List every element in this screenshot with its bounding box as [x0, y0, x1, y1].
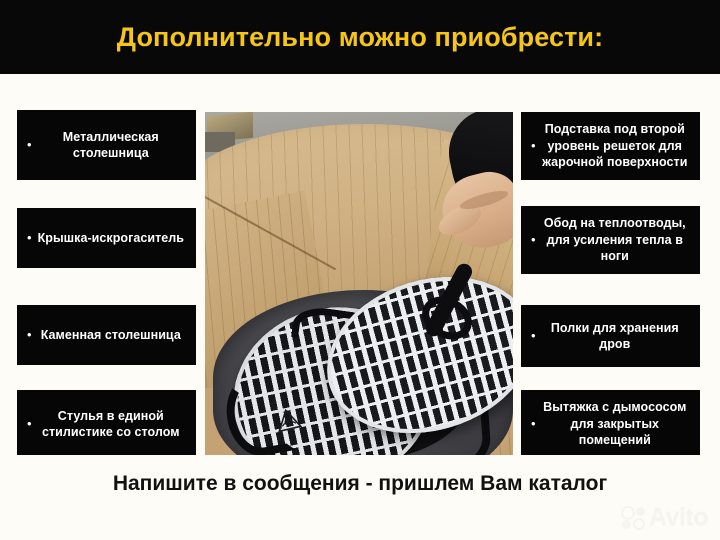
- feature-label: Металлическая столешница: [36, 129, 186, 162]
- bullet-icon: •: [27, 138, 32, 151]
- bullet-icon: •: [27, 417, 32, 430]
- avito-logo-icon: [621, 506, 647, 530]
- feature-item-left-2[interactable]: • Крышка-искрогаситель: [17, 208, 196, 268]
- feature-label: Стулья в единой стилистике со столом: [36, 408, 186, 441]
- promo-card: Дополнительно можно приобрести:: [0, 0, 720, 540]
- bullet-icon: •: [531, 417, 536, 430]
- header-banner: Дополнительно можно приобрести:: [0, 0, 720, 74]
- bullet-icon: •: [27, 328, 32, 341]
- feature-item-left-4[interactable]: • Стулья в единой стилистике со столом: [17, 390, 196, 458]
- call-to-action-text: Напишите в сообщения - пришлем Вам катал…: [0, 472, 720, 496]
- feature-label: Крышка-искрогаситель: [36, 230, 186, 247]
- feature-item-right-3[interactable]: • Полки для хранения дров: [521, 305, 700, 367]
- feature-label: Подставка под второй уровень решеток для…: [540, 121, 690, 171]
- avito-wordmark: Avito: [649, 503, 708, 532]
- page-title: Дополнительно можно приобрести:: [117, 24, 603, 51]
- footer: Напишите в сообщения - пришлем Вам катал…: [0, 455, 720, 540]
- feature-item-right-4[interactable]: • Вытяжка с дымососом для закрытых помещ…: [521, 390, 700, 458]
- feature-item-left-3[interactable]: • Каменная столешница: [17, 305, 196, 365]
- avito-watermark: Avito: [621, 503, 708, 532]
- feature-label: Обод на теплоотводы, для усиления тепла …: [540, 215, 690, 265]
- product-photo: [205, 112, 513, 455]
- feature-label: Полки для хранения дров: [540, 320, 690, 353]
- bullet-icon: •: [531, 329, 536, 342]
- feature-label: Каменная столешница: [36, 327, 186, 344]
- feature-item-right-1[interactable]: • Подставка под второй уровень решеток д…: [521, 112, 700, 180]
- bullet-icon: •: [531, 233, 536, 246]
- feature-item-left-1[interactable]: • Металлическая столешница: [17, 110, 196, 180]
- feature-label: Вытяжка с дымососом для закрытых помещен…: [540, 399, 690, 449]
- bullet-icon: •: [27, 231, 32, 244]
- bullet-icon: •: [531, 139, 536, 152]
- feature-item-right-2[interactable]: • Обод на теплоотводы, для усиления тепл…: [521, 206, 700, 274]
